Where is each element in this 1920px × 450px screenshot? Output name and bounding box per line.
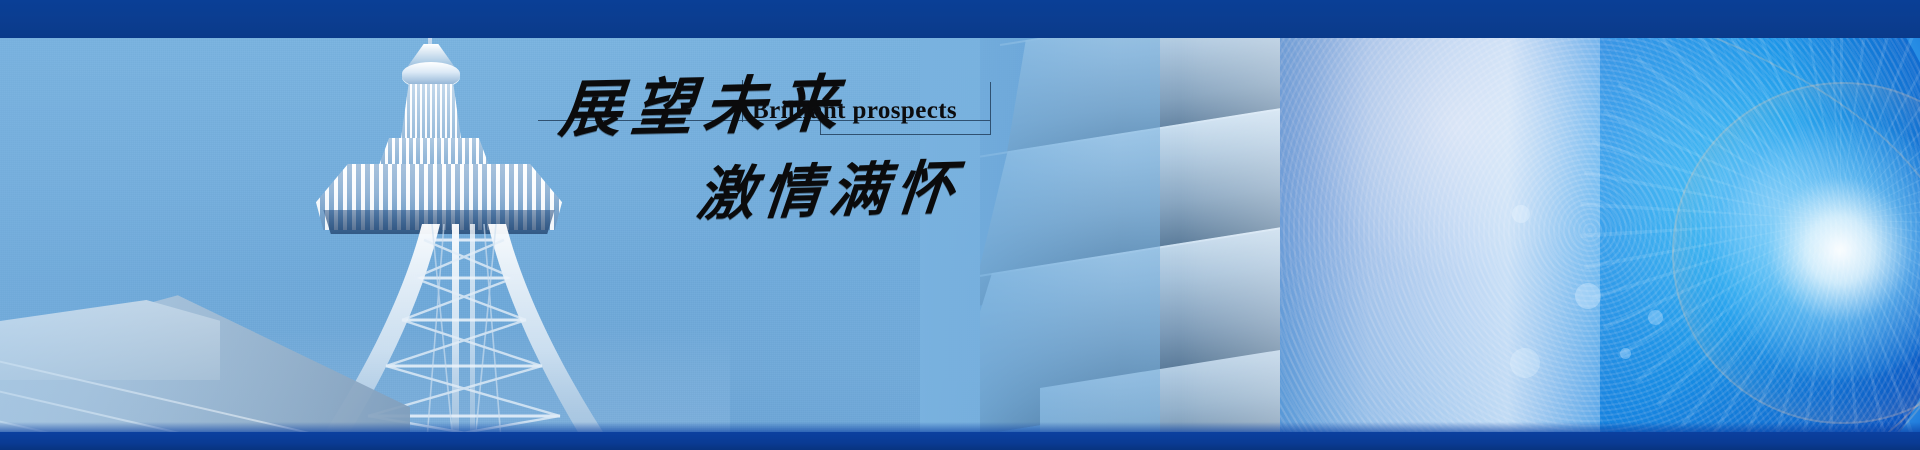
bokeh-dot-5 <box>1620 348 1631 359</box>
bottom-bar-glow <box>0 422 1920 432</box>
subtitle-english: Brilliant prospects <box>752 97 957 125</box>
bokeh-dot-3 <box>1648 310 1663 325</box>
bottom-navy-bar <box>0 432 1920 450</box>
globe-photo <box>1280 0 1920 450</box>
tower-neck <box>400 84 462 146</box>
bokeh-dot-2 <box>1575 283 1601 309</box>
banner-text-block: 展望未来 Brilliant prospects 激情满怀 <box>520 52 1040 222</box>
bokeh-dot-4 <box>1510 348 1540 378</box>
rule-vertical-right <box>990 82 991 135</box>
headline-chinese-line-2: 激情满怀 <box>694 140 967 231</box>
top-navy-bar <box>0 0 1920 38</box>
tower-upper-deck <box>378 138 490 168</box>
corporate-banner: 展望未来 Brilliant prospects 激情满怀 <box>0 0 1920 450</box>
bokeh-dot-1 <box>1512 205 1530 223</box>
rule-horizontal-lower <box>820 134 990 135</box>
